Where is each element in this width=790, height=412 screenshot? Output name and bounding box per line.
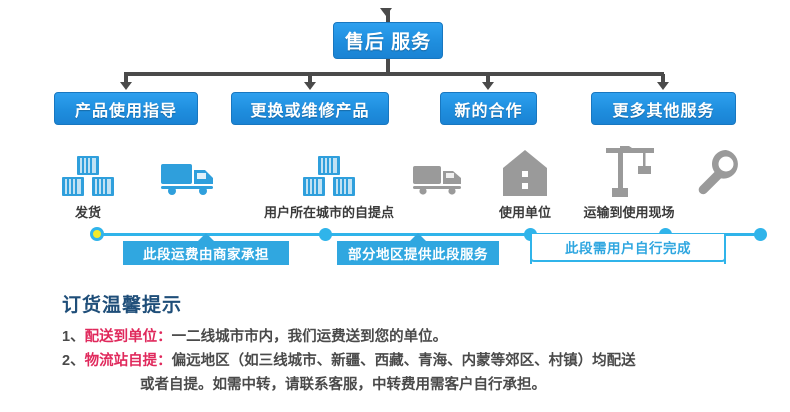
node-product-usage-guide[interactable]: 产品使用指导 — [54, 92, 198, 125]
node-more-other-services[interactable]: 更多其他服务 — [591, 92, 736, 125]
stage-label: 运输到使用现场 — [568, 202, 690, 221]
arrow-down-icon-2 — [482, 82, 494, 90]
arrow-down-icon-3 — [657, 82, 669, 90]
node-new-cooperation[interactable]: 新的合作 — [440, 92, 537, 125]
service-flow-infographic: 售后 服务 产品使用指导 更换或维修产品 新的合作 更多其他服务 发货 — [0, 0, 790, 412]
note-number: 1、 — [62, 326, 85, 349]
note-keyword: 配送到单位： — [85, 326, 172, 349]
stage-transport-blue — [150, 146, 226, 202]
crane-icon — [568, 146, 690, 198]
arrow-down-icon-1 — [304, 82, 316, 90]
stage-installation — [688, 146, 750, 202]
stage-shipping: 发货 — [50, 146, 126, 221]
timeline-dot-1[interactable] — [319, 228, 332, 241]
order-tips-section: 订货温馨提示 1、 配送到单位： 一二线城市市内，我们运费送到您的单位。 2、 … — [62, 290, 778, 397]
node-replace-or-repair[interactable]: 更换或维修产品 — [231, 92, 389, 125]
note-body: 偏远地区（如三线城市、新疆、西藏、青海、内蒙等郊区、村镇）均配送 — [172, 350, 636, 373]
timeline-dot-end[interactable] — [754, 228, 767, 241]
callout-user-completes-segment: 此段需用户自行完成 — [530, 234, 726, 262]
cargo-crates-icon — [249, 146, 409, 198]
truck-icon — [150, 146, 226, 198]
stage-pickup-point: 用户所在城市的自提点 — [249, 146, 409, 221]
timeline-dot-start[interactable] — [93, 230, 101, 238]
cargo-crates-icon — [50, 146, 126, 198]
stage-transport-gray — [400, 146, 476, 202]
stage-label: 用户所在城市的自提点 — [249, 202, 409, 221]
stage-label: 使用单位 — [485, 202, 565, 221]
list-item: 2、 物流站自提： 偏远地区（如三线城市、新疆、西藏、青海、内蒙等郊区、村镇）均… — [62, 350, 778, 373]
arrow-down-icon-0 — [120, 82, 132, 90]
note-body: 一二线城市市内，我们运费送到您的单位。 — [172, 326, 448, 349]
house-icon — [485, 146, 565, 198]
stage-label: 发货 — [50, 202, 126, 221]
note-keyword: 物流站自提： — [85, 350, 172, 373]
stage-end-user-site: 使用单位 — [485, 146, 565, 221]
callout-merchant-pays-freight: 此段运费由商家承担 — [123, 241, 289, 265]
note-number: 2、 — [62, 350, 85, 373]
list-item: 1、 配送到单位： 一二线城市市内，我们运费送到您的单位。 — [62, 326, 778, 349]
page-title: 订货温馨提示 — [62, 290, 778, 317]
stage-transport-to-site: 运输到使用现场 — [568, 146, 690, 221]
connector-horizontal-bar — [124, 72, 664, 76]
wrench-icon — [688, 146, 750, 198]
truck-icon — [400, 146, 476, 198]
note-continuation: 或者自提。如需中转，请联系客服，中转费用需客户自行承担。 — [62, 374, 778, 397]
node-root-after-sales-service[interactable]: 售后 服务 — [333, 22, 443, 59]
callout-partial-region-service: 部分地区提供此段服务 — [337, 241, 499, 265]
